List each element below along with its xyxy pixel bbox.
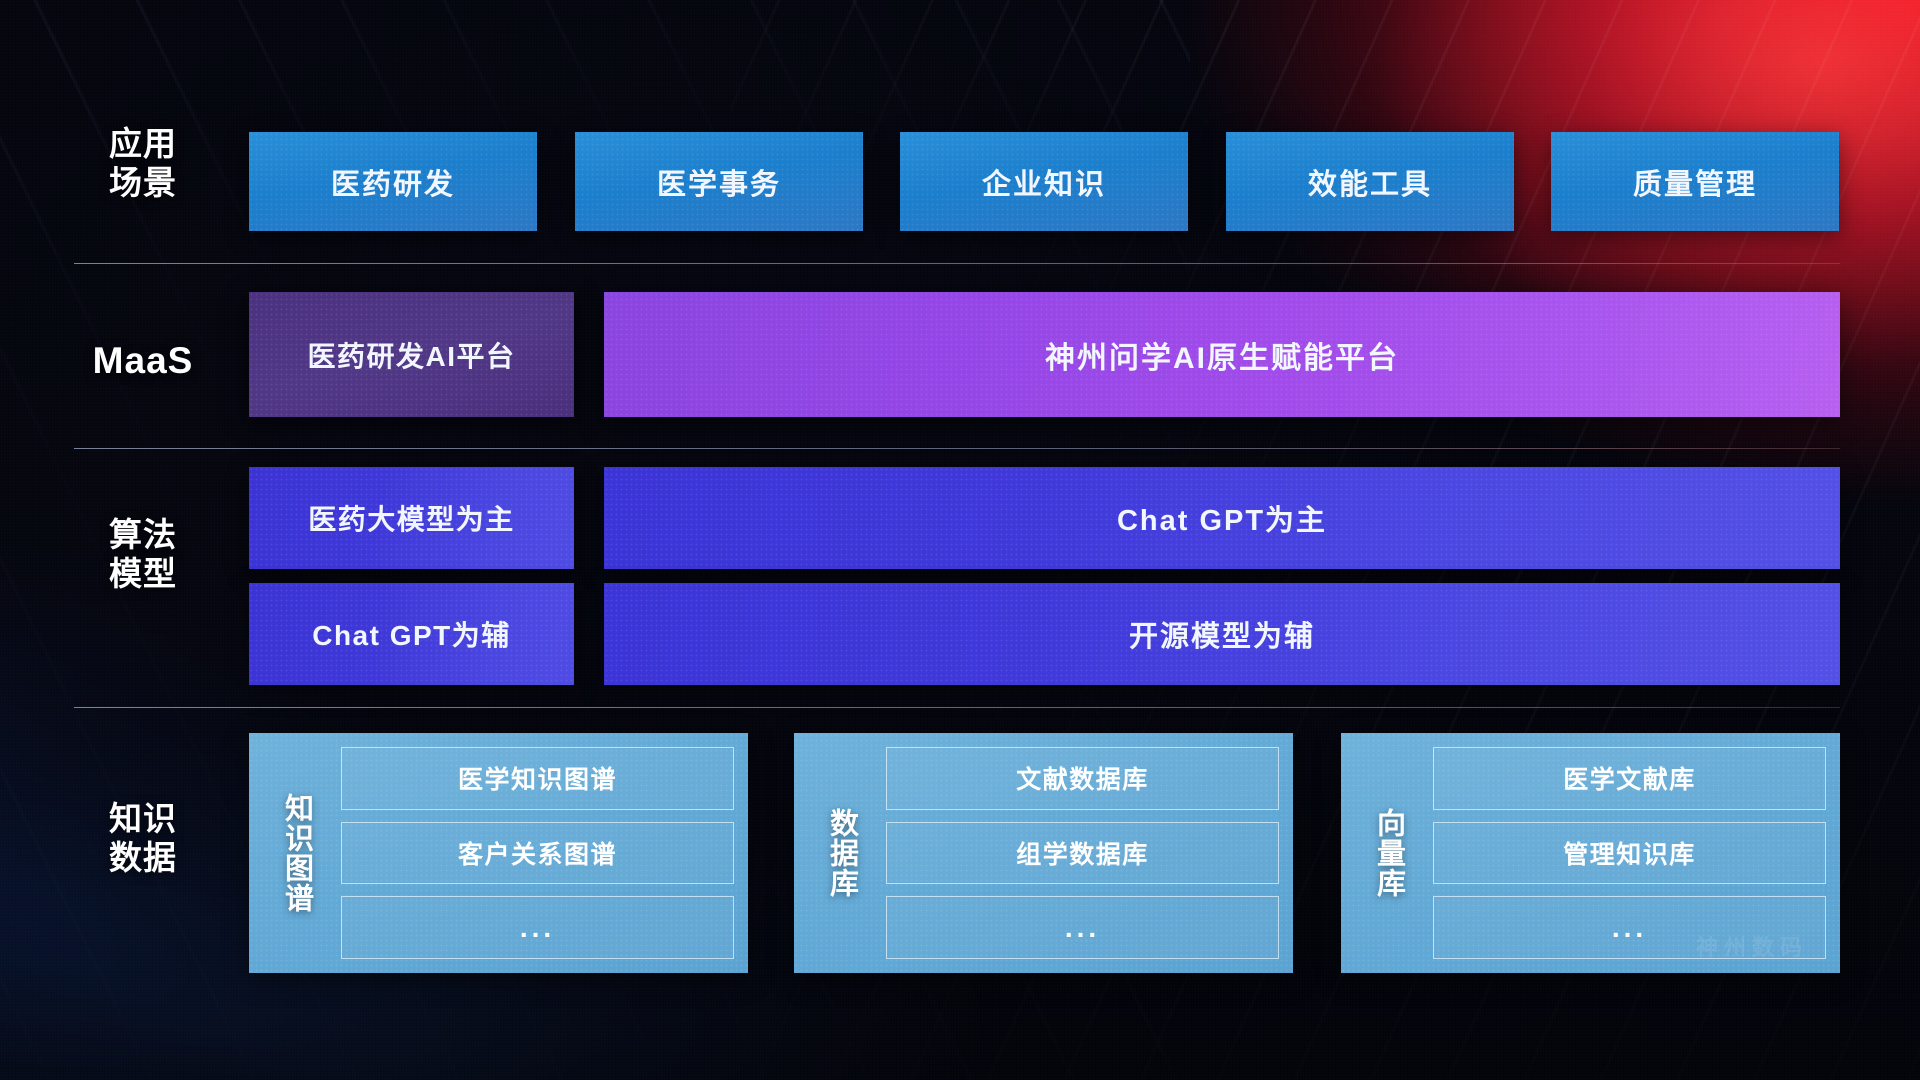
row-label-line-2: 模型: [78, 555, 208, 594]
knowledge-item[interactable]: 文献数据库: [886, 747, 1279, 810]
algo-card-opensource-secondary[interactable]: 开源模型为辅: [604, 583, 1840, 685]
maas-card-label: 医药研发AI平台: [307, 335, 515, 375]
app-card-efficiency-tools[interactable]: 效能工具: [1226, 132, 1514, 231]
divider-row-2: [74, 448, 1840, 449]
algo-card-label: Chat GPT为辅: [312, 614, 511, 654]
knowledge-group-items: 医学知识图谱 客户关系图谱 ...: [341, 747, 734, 959]
knowledge-item[interactable]: 客户关系图谱: [341, 822, 734, 885]
knowledge-item[interactable]: 医学知识图谱: [341, 747, 734, 810]
app-card-label: 医药研发: [331, 161, 455, 203]
architecture-diagram: 应用 场景 医药研发 医学事务 企业知识 效能工具 质量管理 MaaS 医药研发…: [0, 0, 1920, 1080]
app-card-drug-rd[interactable]: 医药研发: [249, 132, 537, 231]
app-card-label: 效能工具: [1308, 161, 1432, 203]
app-card-label: 医学事务: [657, 161, 781, 203]
algo-card-label: Chat GPT为主: [1117, 497, 1327, 539]
knowledge-group-vector-store[interactable]: 向量库 医学文献库 管理知识库 ...: [1341, 733, 1840, 973]
algo-card-chatgpt-primary[interactable]: Chat GPT为主: [604, 467, 1840, 569]
row-label-line-1: MaaS: [70, 339, 216, 383]
algo-card-pharma-llm-primary[interactable]: 医药大模型为主: [249, 467, 574, 569]
knowledge-item[interactable]: 组学数据库: [886, 822, 1279, 885]
knowledge-item[interactable]: 医学文献库: [1433, 747, 1826, 810]
knowledge-item-more[interactable]: ...: [341, 896, 734, 959]
row-label-knowledge-data: 知识 数据: [78, 800, 208, 878]
knowledge-group-title: 知识图谱: [265, 747, 327, 959]
knowledge-item-more[interactable]: ...: [1433, 896, 1826, 959]
knowledge-item-more[interactable]: ...: [886, 896, 1279, 959]
row-label-application-scenario: 应用 场景: [78, 125, 208, 203]
row-label-algorithm-model: 算法 模型: [78, 516, 208, 594]
knowledge-group-database[interactable]: 数据库 文献数据库 组学数据库 ...: [794, 733, 1293, 973]
algo-card-label: 医药大模型为主: [308, 498, 515, 538]
knowledge-item[interactable]: 管理知识库: [1433, 822, 1826, 885]
app-card-enterprise-knowledge[interactable]: 企业知识: [900, 132, 1188, 231]
maas-card-shenzhou-wenxue-platform[interactable]: 神州问学AI原生赋能平台: [604, 292, 1840, 417]
knowledge-group-title: 数据库: [810, 747, 872, 959]
row-label-line-1: 应用: [78, 125, 208, 164]
knowledge-group-title: 向量库: [1357, 747, 1419, 959]
maas-card-label: 神州问学AI原生赋能平台: [1045, 333, 1399, 377]
row-label-line-1: 算法: [78, 516, 208, 555]
row-label-line-2: 场景: [78, 164, 208, 203]
knowledge-group-items: 文献数据库 组学数据库 ...: [886, 747, 1279, 959]
app-card-label: 企业知识: [982, 161, 1106, 203]
row-label-line-1: 知识: [78, 800, 208, 839]
knowledge-group-items: 医学文献库 管理知识库 ...: [1433, 747, 1826, 959]
maas-card-drug-rd-ai-platform[interactable]: 医药研发AI平台: [249, 292, 574, 417]
row-label-line-2: 数据: [78, 839, 208, 878]
algo-card-chatgpt-secondary[interactable]: Chat GPT为辅: [249, 583, 574, 685]
algo-card-label: 开源模型为辅: [1129, 613, 1315, 655]
row-label-maas: MaaS: [70, 339, 216, 383]
app-card-label: 质量管理: [1633, 161, 1757, 203]
divider-row-3: [74, 707, 1840, 708]
knowledge-group-knowledge-graph[interactable]: 知识图谱 医学知识图谱 客户关系图谱 ...: [249, 733, 748, 973]
divider-row-1: [74, 263, 1840, 264]
app-card-quality-management[interactable]: 质量管理: [1551, 132, 1839, 231]
app-card-medical-affairs[interactable]: 医学事务: [575, 132, 863, 231]
